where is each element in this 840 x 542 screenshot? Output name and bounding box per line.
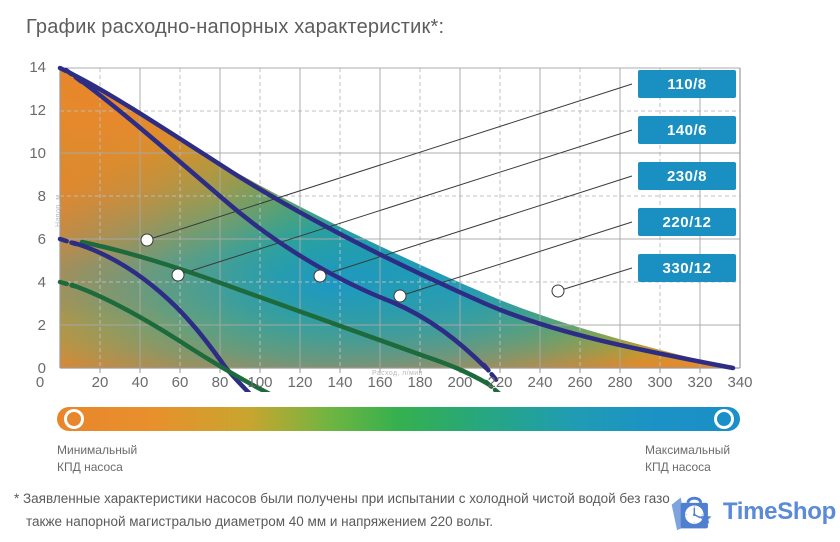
x-tick-100: 100 [240, 374, 280, 391]
scale-max-line1: Максимальный [645, 443, 730, 457]
x-tick-280: 280 [600, 374, 640, 391]
chart-container: 0 2 4 6 8 10 12 14 Напор, м Расход, л/ми… [0, 52, 840, 392]
efficiency-gradient-bar [57, 407, 740, 431]
x-tick-80: 80 [200, 374, 240, 391]
scale-min-line2: КПД насоса [57, 460, 123, 474]
x-tick-120: 120 [280, 374, 320, 391]
marker-110-8 [141, 234, 153, 246]
scale-min-label: Минимальный КПД насоса [57, 442, 137, 476]
legend-item-220-12[interactable]: 220/12 [638, 208, 736, 236]
chart-page: График расходно-напорных характеристик*: [0, 0, 840, 542]
scale-min-line1: Минимальный [57, 443, 137, 457]
scale-knob-max[interactable] [714, 409, 734, 429]
legend-item-110-8[interactable]: 110/8 [638, 70, 736, 98]
page-title: График расходно-напорных характеристик*: [26, 16, 444, 39]
scale-max-line2: КПД насоса [645, 460, 711, 474]
footnote: * Заявленные характеристики насосов были… [14, 487, 674, 533]
x-tick-260: 260 [560, 374, 600, 391]
marker-230-8 [314, 270, 326, 282]
x-tick-20: 20 [80, 374, 120, 391]
footnote-line2: также напорной магистралью диаметром 40 … [14, 510, 674, 533]
x-tick-200: 200 [440, 374, 480, 391]
y-tick-4: 4 [16, 274, 46, 291]
marker-220-12 [394, 290, 406, 302]
y-tick-12: 12 [16, 102, 46, 119]
x-tick-40: 40 [120, 374, 160, 391]
x-tick-140: 140 [320, 374, 360, 391]
y-axis-title: Напор, м [55, 195, 62, 227]
timeshop-bag-clock-icon [668, 490, 719, 534]
x-tick-220: 220 [480, 374, 520, 391]
scale-knob-min[interactable] [64, 409, 84, 429]
x-tick-340: 340 [720, 374, 760, 391]
x-tick-180: 180 [400, 374, 440, 391]
x-tick-160: 160 [360, 374, 400, 391]
efficiency-scale: Минимальный КПД насоса Максимальный КПД … [0, 402, 840, 492]
x-tick-320: 320 [680, 374, 720, 391]
y-tick-10: 10 [16, 145, 46, 162]
scale-max-label: Максимальный КПД насоса [645, 442, 730, 476]
y-tick-2: 2 [16, 317, 46, 334]
x-tick-300: 300 [640, 374, 680, 391]
timeshop-logo-text: TimeShop [723, 498, 836, 526]
marker-140-6 [172, 269, 184, 281]
y-tick-8: 8 [16, 188, 46, 205]
marker-330-12 [552, 285, 564, 297]
timeshop-watermark: TimeShop [668, 486, 836, 538]
y-tick-14: 14 [16, 59, 46, 76]
legend-item-230-8[interactable]: 230/8 [638, 162, 736, 190]
x-tick-0: 0 [20, 374, 60, 391]
x-tick-60: 60 [160, 374, 200, 391]
footnote-line1: * Заявленные характеристики насосов были… [14, 491, 670, 506]
legend-item-330-12[interactable]: 330/12 [638, 254, 736, 282]
x-tick-240: 240 [520, 374, 560, 391]
legend-item-140-6[interactable]: 140/6 [638, 116, 736, 144]
y-tick-6: 6 [16, 231, 46, 248]
